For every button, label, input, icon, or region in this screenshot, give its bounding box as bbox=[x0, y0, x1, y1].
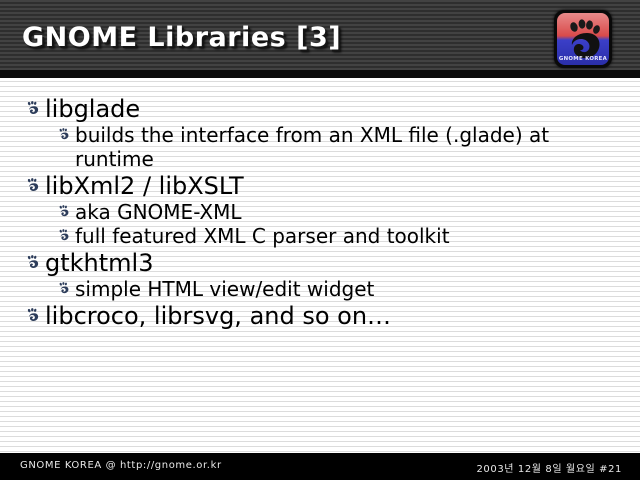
list-item-label: libglade bbox=[45, 95, 626, 123]
gnome-foot-bullet-icon bbox=[26, 172, 40, 198]
slide-header: GNOME Libraries [3] GNOME KOREA bbox=[0, 0, 640, 78]
list-item-label: libcroco, librsvg, and so on… bbox=[45, 302, 626, 330]
list-item-label: simple HTML view/edit widget bbox=[75, 277, 626, 301]
list-item-label: builds the interface from an XML file (.… bbox=[75, 123, 626, 171]
gnome-foot-bullet-icon bbox=[58, 200, 70, 223]
page-title: GNOME Libraries [3] bbox=[22, 22, 341, 53]
gnome-foot-bullet-icon bbox=[58, 277, 70, 300]
bullet-list: libglade builds the interface from an XM… bbox=[26, 94, 626, 330]
list-item: full featured XML C parser and toolkit bbox=[58, 224, 626, 248]
list-item: simple HTML view/edit widget bbox=[58, 277, 626, 301]
logo-inner: GNOME KOREA bbox=[557, 13, 609, 65]
list-item: aka GNOME-XML bbox=[58, 200, 626, 224]
list-item-label: full featured XML C parser and toolkit bbox=[75, 224, 626, 248]
list-item: libglade bbox=[26, 95, 626, 123]
gnome-foot-bullet-icon bbox=[26, 249, 40, 275]
list-item: gtkhtml3 bbox=[26, 249, 626, 277]
gnome-foot-bullet-icon bbox=[26, 302, 40, 328]
footer-date-and-slide-number: 2003년 12월 8일 월요일 #21 bbox=[476, 460, 622, 475]
list-item: libcroco, librsvg, and so on… bbox=[26, 302, 626, 330]
gnome-foot-bullet-icon bbox=[58, 123, 70, 146]
list-item: builds the interface from an XML file (.… bbox=[58, 123, 626, 171]
gnome-foot-bullet-icon bbox=[58, 224, 70, 247]
list-item: libXml2 / libXSLT bbox=[26, 172, 626, 200]
list-item-label: libXml2 / libXSLT bbox=[45, 172, 626, 200]
slide-body: libglade builds the interface from an XM… bbox=[0, 78, 640, 453]
slide: GNOME Libraries [3] GNOME KOREA bbox=[0, 0, 640, 480]
slide-footer: GNOME KOREA @ http://gnome.or.kr 2003년 1… bbox=[0, 453, 640, 480]
list-item-label: aka GNOME-XML bbox=[75, 200, 626, 224]
footer-organization: GNOME KOREA @ http://gnome.or.kr bbox=[20, 460, 222, 471]
gnome-foot-bullet-icon bbox=[26, 95, 40, 121]
gnome-korea-logo: GNOME KOREA bbox=[554, 10, 612, 68]
logo-caption: GNOME KOREA bbox=[557, 57, 609, 62]
header-divider bbox=[0, 70, 640, 78]
list-item-label: gtkhtml3 bbox=[45, 249, 626, 277]
